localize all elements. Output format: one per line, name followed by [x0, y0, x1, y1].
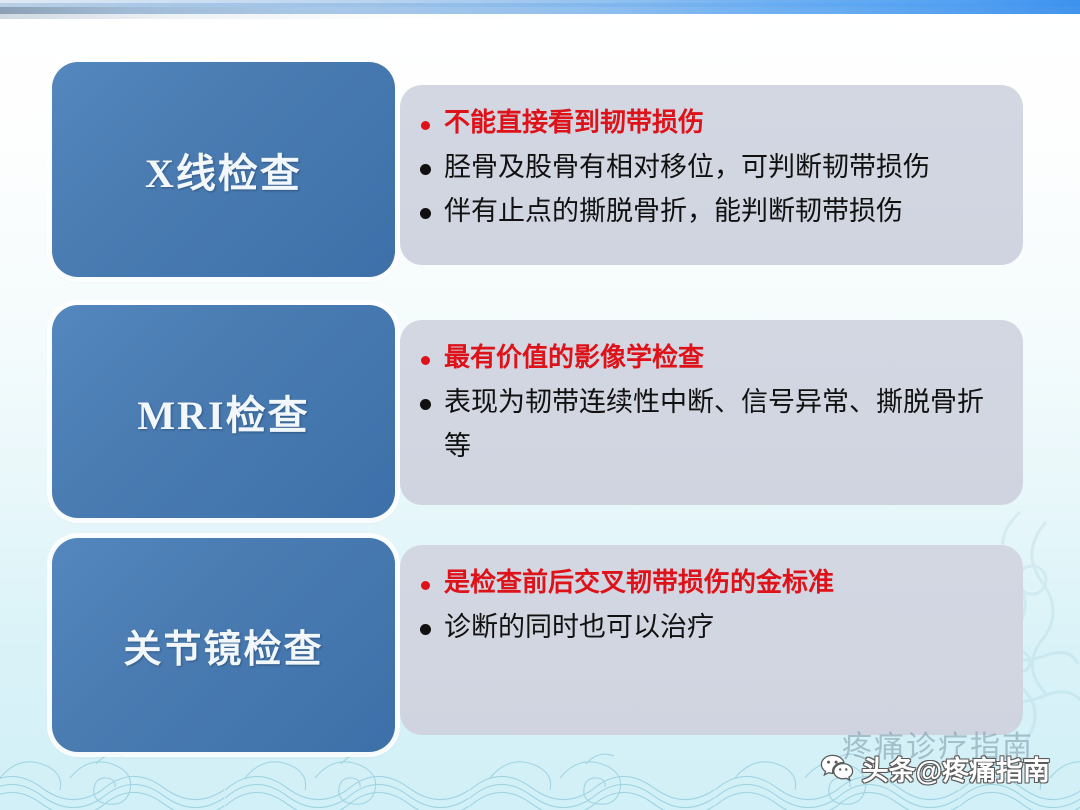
label-box-mri[interactable]: MRI检查: [52, 305, 395, 518]
label-text: 关节镜检查: [123, 618, 323, 673]
bullet-item: 最有价值的影像学检查: [412, 336, 1005, 380]
bullet-item: 诊断的同时也可以治疗: [412, 605, 1005, 649]
watermark-label: 头条@疼痛指南: [862, 749, 1050, 788]
content-panel-arthroscopy: 是检查前后交叉韧带损伤的金标准 诊断的同时也可以治疗: [400, 545, 1023, 735]
label-text: MRI检查: [137, 383, 309, 441]
content-row-2: MRI检查 最有价值的影像学检查 表现为韧带连续性中断、信号异常、撕脱骨折等: [0, 305, 1080, 518]
bullet-list: 最有价值的影像学检查 表现为韧带连续性中断、信号异常、撕脱骨折等: [412, 336, 1005, 468]
bullet-item: 是检查前后交叉韧带损伤的金标准: [412, 561, 1005, 605]
bullet-item: 胫骨及股骨有相对移位，可判断韧带损伤: [412, 145, 1005, 189]
watermark: 头条@疼痛指南: [820, 749, 1050, 788]
label-box-arthroscopy[interactable]: 关节镜检查: [52, 538, 395, 752]
top-banner-underline: [0, 14, 1080, 19]
bullet-item: 伴有止点的撕脱骨折，能判断韧带损伤: [412, 189, 1005, 233]
top-banner-highlight: [0, 0, 1080, 3]
bullet-list: 不能直接看到韧带损伤 胫骨及股骨有相对移位，可判断韧带损伤 伴有止点的撕脱骨折，…: [412, 101, 1005, 233]
content-row-3: 关节镜检查 是检查前后交叉韧带损伤的金标准 诊断的同时也可以治疗: [0, 538, 1080, 752]
bullet-list: 是检查前后交叉韧带损伤的金标准 诊断的同时也可以治疗: [412, 561, 1005, 649]
top-banner-shade: [0, 7, 1080, 14]
top-banner: [0, 0, 1080, 14]
bullet-item: 表现为韧带连续性中断、信号异常、撕脱骨折等: [412, 380, 1005, 468]
slide-canvas: X线检查 不能直接看到韧带损伤 胫骨及股骨有相对移位，可判断韧带损伤 伴有止点的…: [0, 0, 1080, 810]
wechat-icon: [820, 754, 854, 784]
label-box-xray[interactable]: X线检查: [52, 62, 395, 277]
label-text: X线检查: [145, 141, 302, 199]
content-panel-xray: 不能直接看到韧带损伤 胫骨及股骨有相对移位，可判断韧带损伤 伴有止点的撕脱骨折，…: [400, 85, 1023, 265]
content-panel-mri: 最有价值的影像学检查 表现为韧带连续性中断、信号异常、撕脱骨折等: [400, 320, 1023, 505]
bullet-item: 不能直接看到韧带损伤: [412, 101, 1005, 145]
content-row-1: X线检查 不能直接看到韧带损伤 胫骨及股骨有相对移位，可判断韧带损伤 伴有止点的…: [0, 62, 1080, 277]
